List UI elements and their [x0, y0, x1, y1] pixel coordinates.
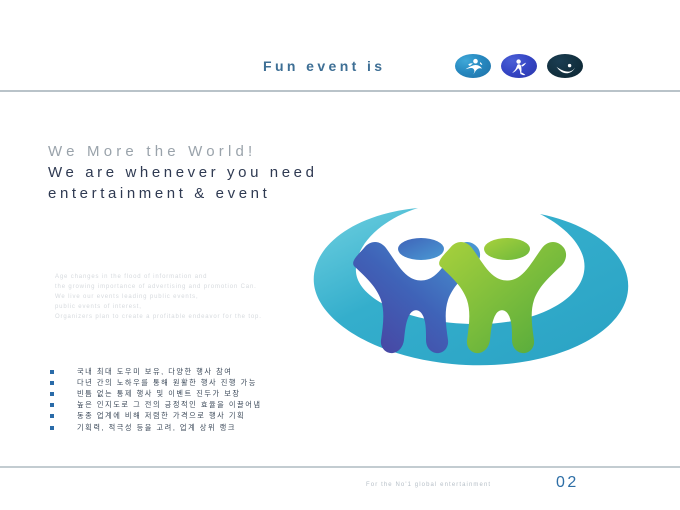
list-item: 빈틈 없는 통제 행사 및 이벤트 진두가 보장 [50, 388, 350, 399]
jumping-person-icon [501, 54, 537, 78]
slide-canvas: Fun event is [0, 0, 680, 510]
footer-divider [0, 466, 680, 468]
bullet-marker-icon [50, 403, 54, 407]
two-people-swoosh-logo [300, 192, 640, 377]
list-item: 기획력, 적극성 등을 고려, 업계 상위 랭크 [50, 422, 350, 433]
bullet-marker-icon [50, 381, 54, 385]
page-title: Fun event is [263, 58, 385, 74]
slide-header: Fun event is [0, 0, 680, 90]
page-number: 02 [556, 474, 579, 492]
bullet-marker-icon [50, 392, 54, 396]
bullet-marker-icon [50, 426, 54, 430]
footer-tagline: For the No'1 global entertainment [366, 482, 491, 488]
list-item: 높은 인지도로 그 전의 긍정적인 효율을 이끌어냄 [50, 400, 350, 411]
list-item-label: 빈틈 없는 통제 행사 및 이벤트 진두가 보장 [77, 389, 241, 399]
list-item: 동종 업계에 비해 저렴한 가격으로 행사 기획 [50, 411, 350, 422]
list-item-label: 다년 간의 노하우를 통해 원활한 행사 진행 가능 [77, 378, 257, 388]
bullet-marker-icon [50, 370, 54, 374]
list-item-label: 국내 최대 도우미 보유, 다양한 행사 참여 [77, 367, 232, 377]
headline-line-muted: We More the World! [48, 141, 518, 162]
swimmer-icon [547, 54, 583, 78]
feature-bullet-list: 국내 최대 도우미 보유, 다양한 행사 참여 다년 간의 노하우를 통해 원활… [50, 366, 350, 433]
header-icon-group [455, 54, 583, 78]
headline-line-main-1: We are whenever you need [48, 162, 518, 183]
list-item: 국내 최대 도우미 보유, 다양한 행사 참여 [50, 366, 350, 377]
list-item-label: 기획력, 적극성 등을 고려, 업계 상위 랭크 [77, 423, 236, 433]
list-item-label: 높은 인지도로 그 전의 긍정적인 효율을 이끌어냄 [77, 400, 262, 410]
list-item-label: 동종 업계에 비해 저렴한 가격으로 행사 기획 [77, 411, 245, 421]
bullet-marker-icon [50, 414, 54, 418]
runner-icon [455, 54, 491, 78]
header-divider [0, 90, 680, 92]
list-item: 다년 간의 노하우를 통해 원활한 행사 진행 가능 [50, 377, 350, 388]
